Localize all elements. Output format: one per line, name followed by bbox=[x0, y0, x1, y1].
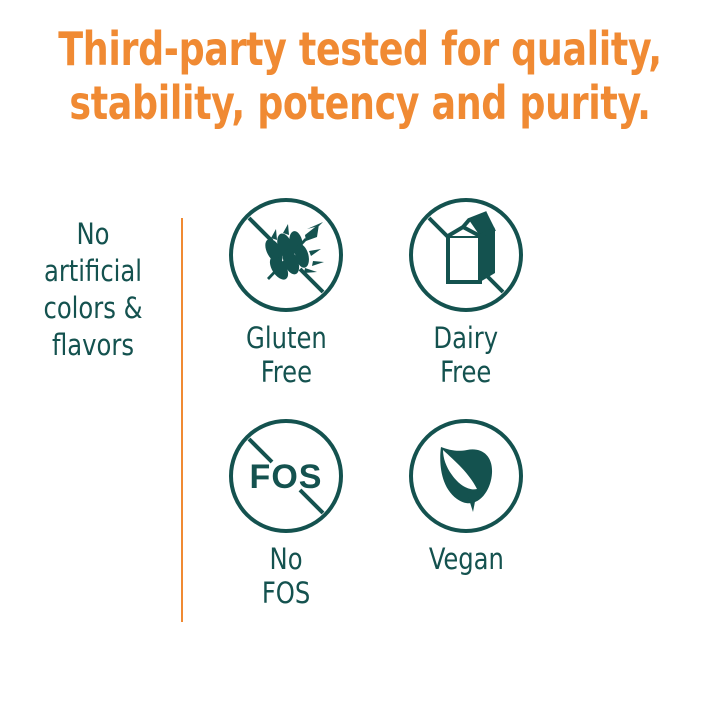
page-title: Third-party tested for quality, stabilit… bbox=[43, 22, 677, 130]
badge-label-line-2: Free bbox=[434, 355, 499, 389]
headline-line-2: stability, potency and purity. bbox=[43, 76, 677, 130]
no-artificial-line-3: colors & bbox=[23, 290, 163, 327]
badge-dairy-free: Dairy Free bbox=[376, 196, 556, 389]
wheat-icon bbox=[227, 196, 345, 314]
badge-label-line-2: Free bbox=[246, 355, 327, 389]
badge-label-line-1: Dairy bbox=[434, 321, 499, 355]
claims-section: No artificial colors & flavors bbox=[0, 196, 720, 666]
badge-no-fos: FOS No FOS bbox=[196, 417, 376, 610]
milk-carton-icon bbox=[407, 196, 525, 314]
badge-label-line-2: FOS bbox=[262, 576, 310, 610]
badge-label: Vegan bbox=[428, 542, 503, 576]
badge-row: Gluten Free bbox=[196, 196, 556, 389]
badge-row: FOS No FOS bbox=[196, 417, 556, 610]
badge-label: No FOS bbox=[262, 542, 310, 610]
no-artificial-claim: No artificial colors & flavors bbox=[23, 216, 163, 364]
no-artificial-line-2: artificial bbox=[23, 253, 163, 290]
promo-graphic: Third-party tested for quality, stabilit… bbox=[0, 0, 720, 720]
fos-icon-text: FOS bbox=[250, 458, 323, 496]
badge-gluten-free: Gluten Free bbox=[196, 196, 376, 389]
badge-label-line-1: Vegan bbox=[428, 542, 503, 576]
no-artificial-line-4: flavors bbox=[23, 327, 163, 364]
leaf-icon bbox=[407, 417, 525, 535]
fos-text-icon: FOS bbox=[227, 417, 345, 535]
badge-vegan: Vegan bbox=[376, 417, 556, 610]
badge-label: Dairy Free bbox=[434, 321, 499, 389]
vertical-divider bbox=[181, 218, 183, 622]
headline-line-1: Third-party tested for quality, bbox=[43, 22, 677, 76]
badge-label-line-1: Gluten bbox=[246, 321, 327, 355]
badge-label-line-1: No bbox=[262, 542, 310, 576]
badge-grid: Gluten Free bbox=[196, 196, 556, 610]
no-artificial-line-1: No bbox=[23, 216, 163, 253]
badge-label: Gluten Free bbox=[246, 321, 327, 389]
